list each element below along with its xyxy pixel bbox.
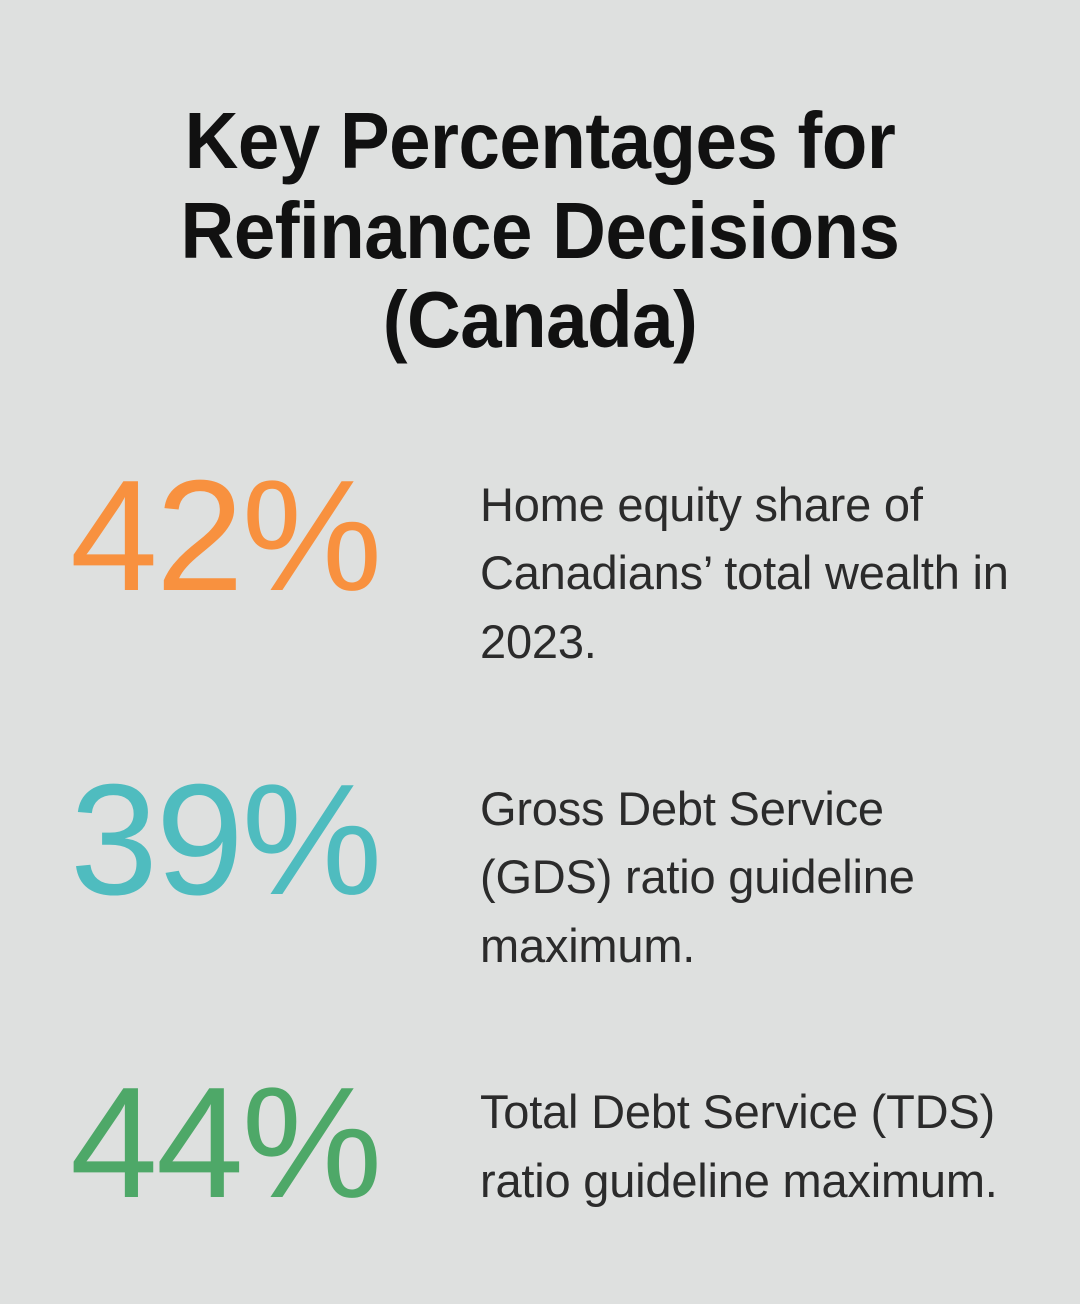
infographic-root: Key Percentages for Refinance Decisions … [0, 0, 1080, 1304]
page-title: Key Percentages for Refinance Decisions … [122, 96, 959, 365]
stat-value-1: 42% [70, 469, 480, 598]
stat-description-1: Home equity share of Canadians’ total we… [480, 469, 1020, 677]
stat-row: 42% Home equity share of Canadians’ tota… [70, 469, 1020, 677]
stat-value-2: 39% [70, 773, 480, 902]
stat-description-2: Gross Debt Service (GDS) ratio guideline… [480, 773, 1020, 981]
statistics-list: 42% Home equity share of Canadians’ tota… [0, 469, 1080, 1216]
stat-row: 39% Gross Debt Service (GDS) ratio guide… [70, 773, 1020, 981]
stat-row: 44% Total Debt Service (TDS) ratio guide… [70, 1076, 1020, 1215]
title-block: Key Percentages for Refinance Decisions … [0, 0, 1080, 365]
stat-value-3: 44% [70, 1076, 480, 1205]
stat-description-3: Total Debt Service (TDS) ratio guideline… [480, 1076, 1020, 1215]
